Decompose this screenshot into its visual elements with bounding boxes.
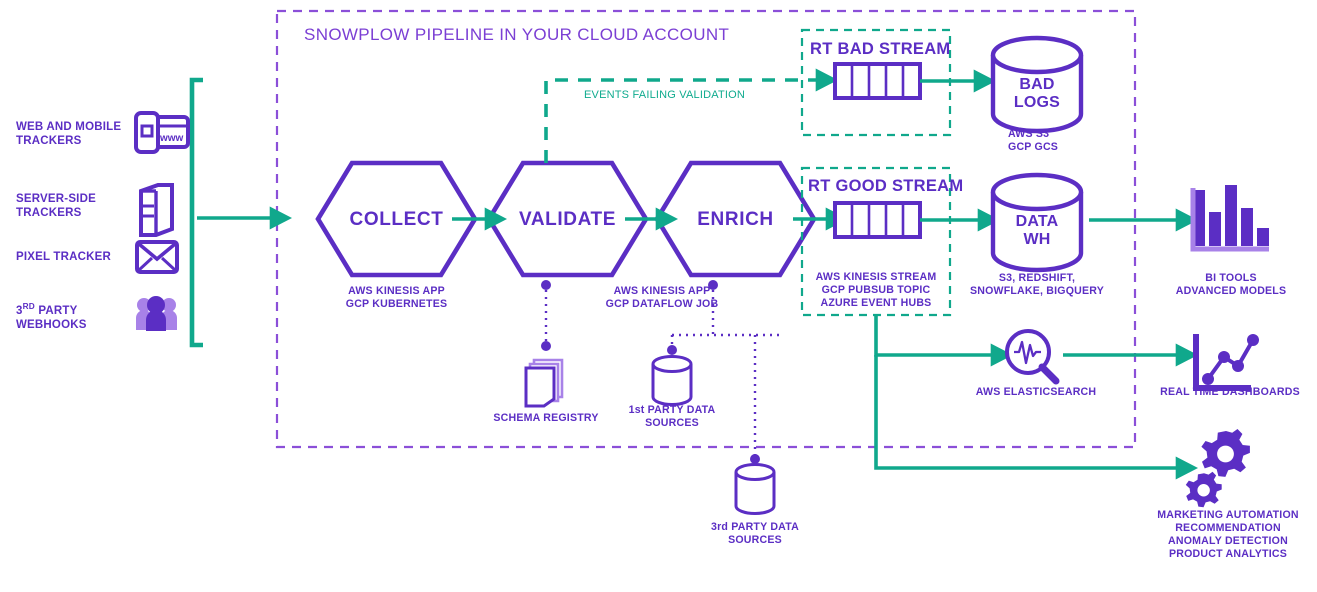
data-wh-caption: S3, REDSHIFT, SNOWFLAKE, BIGQUERY xyxy=(963,272,1111,298)
third-party-cylinder xyxy=(736,465,774,514)
rt-good-stream-queue xyxy=(835,203,920,237)
output-label-activation: MARKETING AUTOMATION RECOMMENDATION ANOM… xyxy=(1144,509,1312,561)
documents-stack-icon xyxy=(526,360,562,406)
source-label-server-side-trackers: SERVER-SIDE TRACKERS xyxy=(16,192,128,220)
good-stream-to-elasticsearch-path xyxy=(876,316,995,355)
stage-label-collect: COLLECT xyxy=(318,208,475,231)
people-icon xyxy=(136,296,177,331)
schema-registry-label: SCHEMA REGISTRY xyxy=(480,412,612,425)
svg-text:www: www xyxy=(159,133,184,144)
rt-bad-stream-queue xyxy=(835,64,920,98)
stage-caption-collect: AWS KINESIS APP GCP KUBERNETES xyxy=(315,285,478,311)
envelope-icon xyxy=(137,242,177,272)
third-party-data-label: 3rd PARTY DATA SOURCES xyxy=(699,521,811,547)
failing-validation-label: EVENTS FAILING VALIDATION xyxy=(584,89,745,102)
bad-logs-label: BAD LOGS xyxy=(993,76,1081,112)
sources-bracket xyxy=(192,80,203,345)
server-icon xyxy=(141,185,172,235)
source-label-pixel-tracker: PIXEL TRACKER xyxy=(16,250,136,264)
output-label-elasticsearch: AWS ELASTICSEARCH xyxy=(962,386,1110,399)
source-label-third-party-webhooks: 3RD PARTY WEBHOOKS xyxy=(16,302,128,332)
data-wh-label: DATA WH xyxy=(993,213,1081,249)
first-party-data-label: 1st PARTY DATA SOURCES xyxy=(616,404,728,430)
line-chart-icon xyxy=(1196,334,1259,388)
rt-good-stream-caption: AWS KINESIS STREAM GCP PUBSUB TOPIC AZUR… xyxy=(806,271,946,310)
diagram-canvas: www SNOWPLOW PIPELINE IN YOUR CLOUD xyxy=(0,0,1317,592)
validate-to-schema-registry-connector xyxy=(541,280,551,351)
output-label-bi-tools: BI TOOLS ADVANCED MODELS xyxy=(1155,272,1307,298)
source-label-web-mobile-trackers: WEB AND MOBILE TRACKERS xyxy=(16,120,128,148)
gears-icon xyxy=(1186,429,1250,507)
stage-label-enrich: ENRICH xyxy=(657,208,814,231)
mobile-web-icon: www xyxy=(136,113,188,152)
pipeline-title: SNOWPLOW PIPELINE IN YOUR CLOUD ACCOUNT xyxy=(304,25,729,46)
rt-good-stream-title: RT GOOD STREAM xyxy=(808,176,963,196)
rt-bad-stream-title: RT BAD STREAM xyxy=(810,39,950,59)
bar-chart-icon xyxy=(1193,185,1269,249)
magnifier-pulse-icon xyxy=(1007,331,1056,381)
first-party-cylinder xyxy=(653,357,691,405)
bad-logs-caption: AWS S3 GCP GCS xyxy=(976,128,1098,154)
stage-label-validate: VALIDATE xyxy=(489,208,646,231)
stage-caption-validate: AWS KINESIS APP GCP DATAFLOW JOB xyxy=(578,285,746,311)
output-label-real-time-dashboards: REAL TIME DASHBOARDS xyxy=(1148,386,1312,399)
